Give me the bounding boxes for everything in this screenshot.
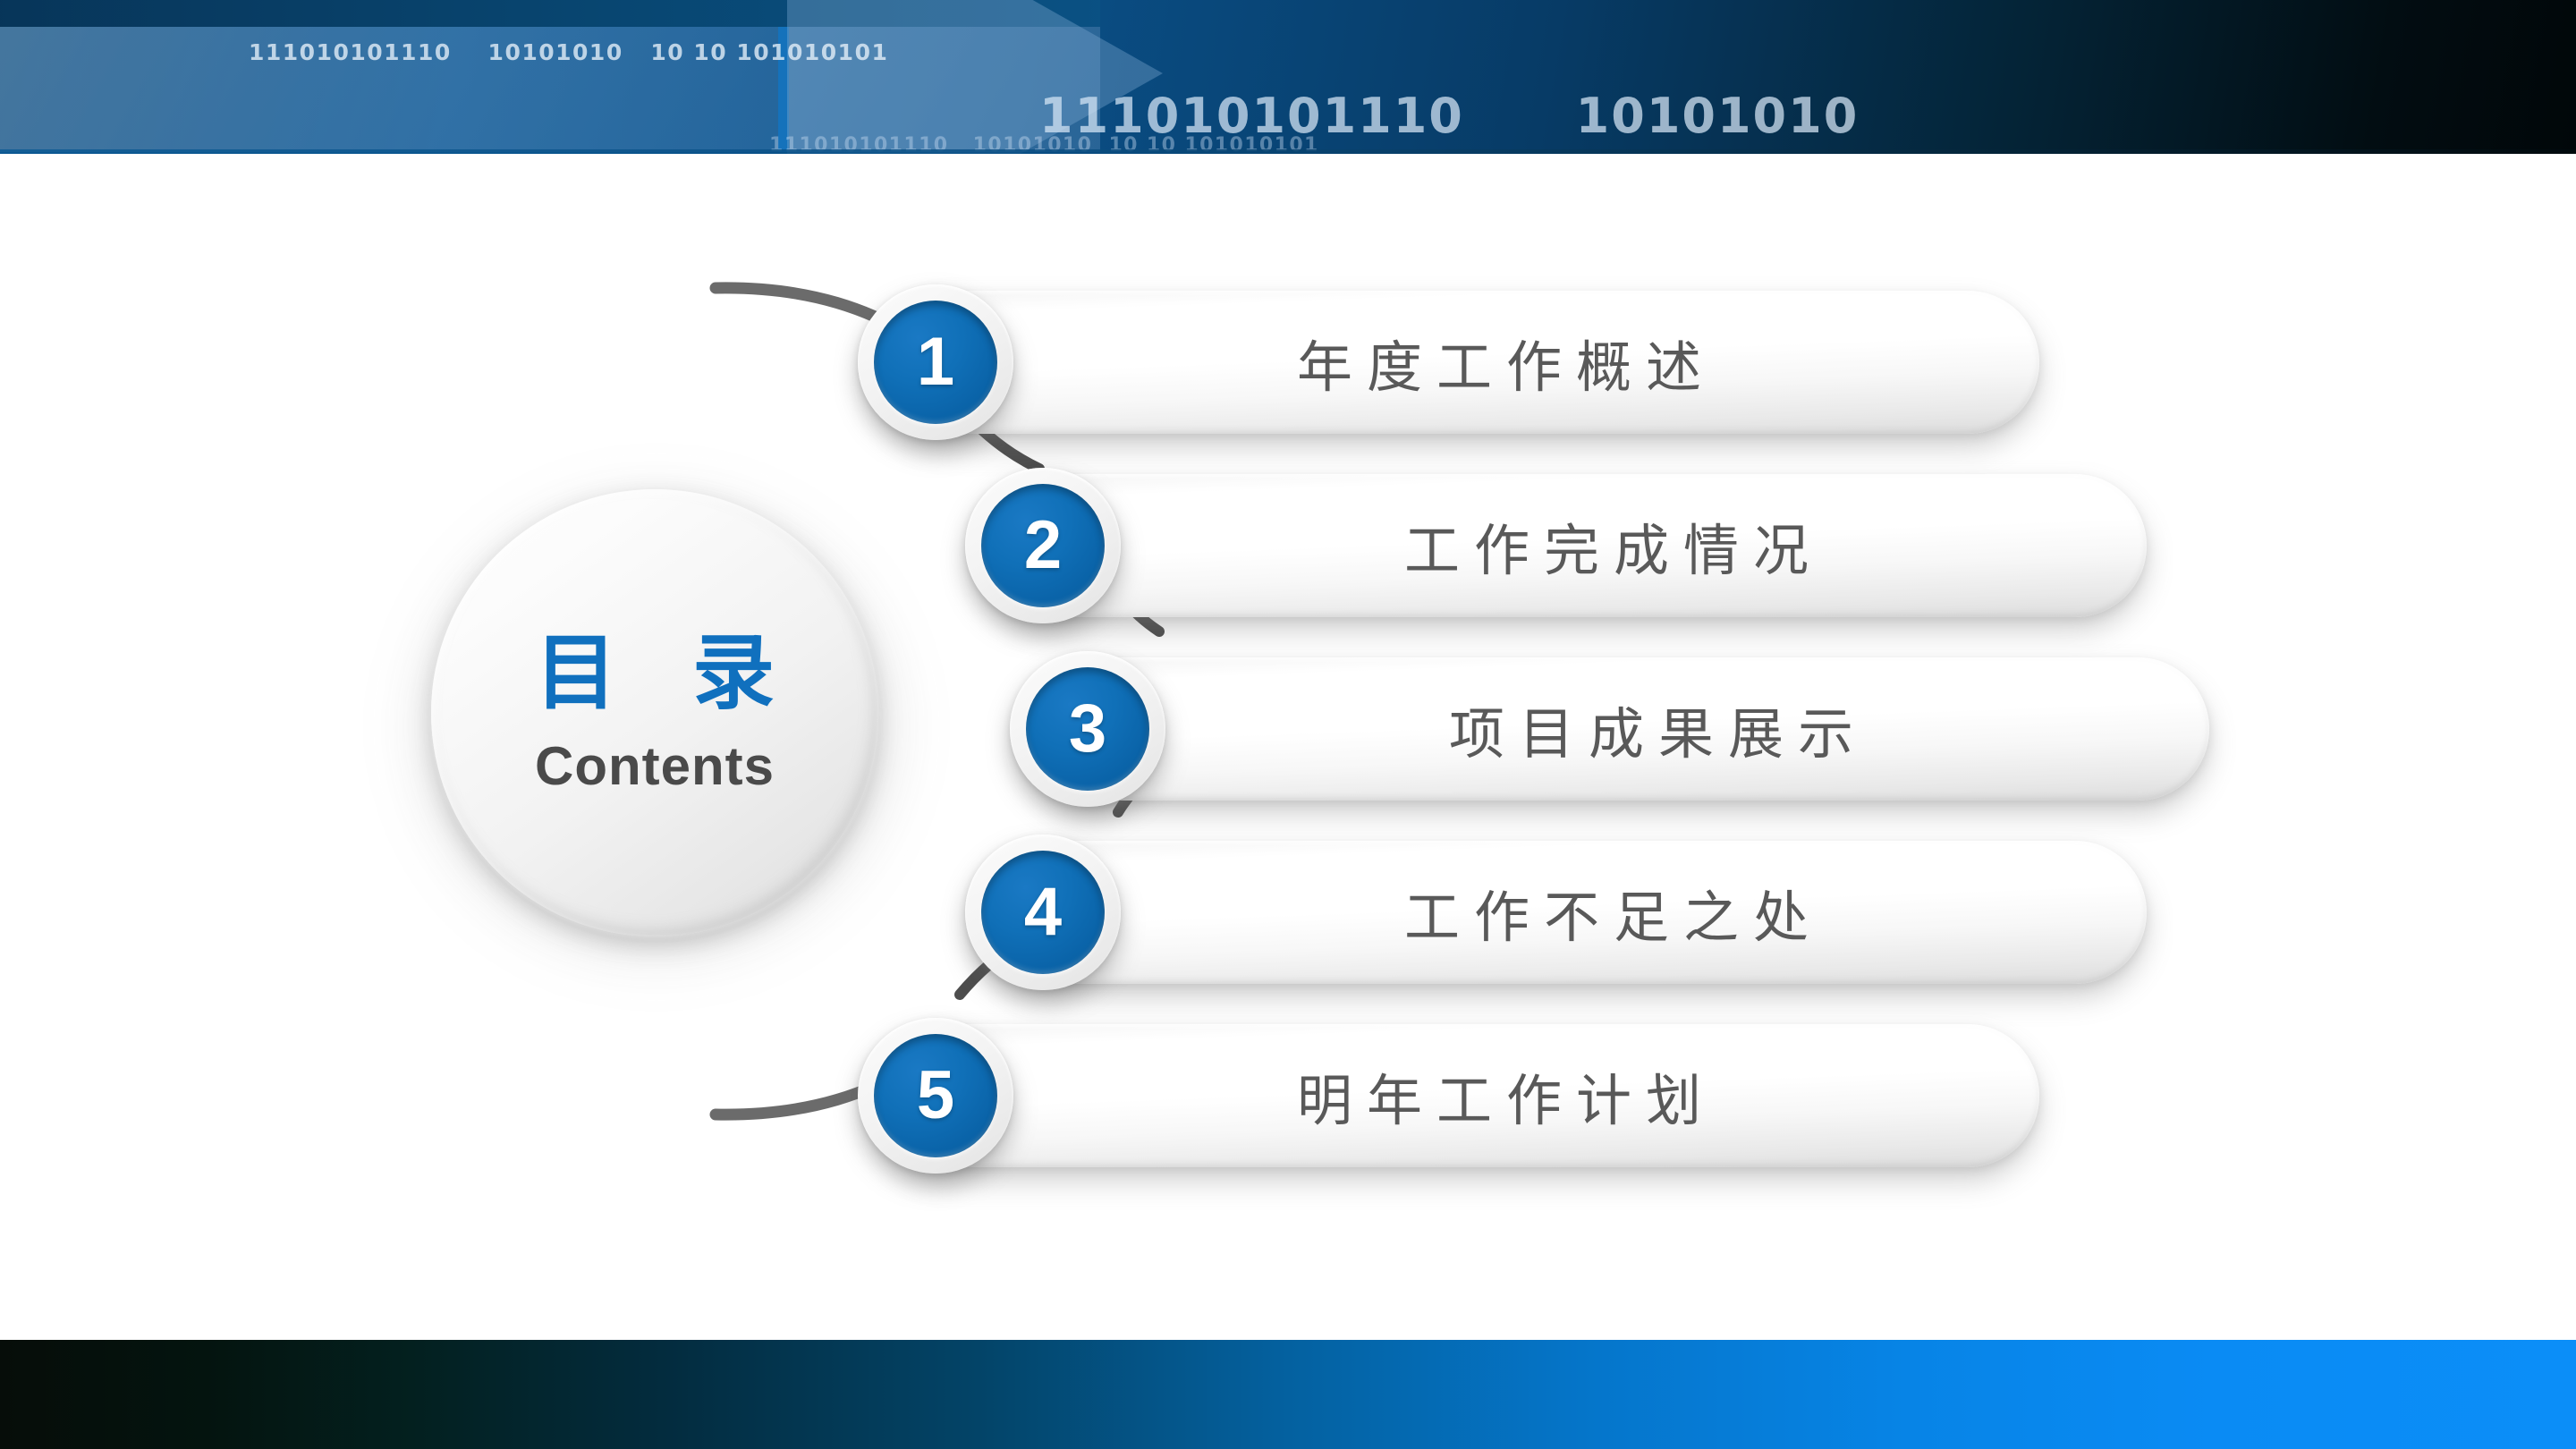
toc-badge-5[interactable]: 5 <box>858 1018 1013 1174</box>
toc-label-4: 工作不足之处 <box>1404 841 1823 984</box>
toc-badge-1[interactable]: 1 <box>858 284 1013 440</box>
slide-canvas: 111010101110 10101010 10 10 101010101 11… <box>0 0 2576 1449</box>
bottom-bar <box>0 1340 2576 1449</box>
toc-badge-number-5: 5 <box>874 1034 997 1157</box>
toc-badge-2[interactable]: 2 <box>965 468 1121 623</box>
circle-title-english: Contents <box>535 740 775 793</box>
contents-circle: 目 录 Contents <box>386 452 923 988</box>
banner-binary-text-small: 111010101110 10101010 10 10 101010101 <box>249 39 888 65</box>
toc-row-1[interactable]: 年度工作概述 1 <box>877 291 2039 434</box>
toc-badge-number-2: 2 <box>981 484 1105 607</box>
toc-label-5: 明年工作计划 <box>1297 1024 1716 1167</box>
circle-face: 目 录 Contents <box>431 489 878 936</box>
top-banner: 111010101110 10101010 10 10 101010101 11… <box>0 0 2576 154</box>
content-stage: 目 录 Contents 年度工作概述 1 工作完成情况 2 项目成果展示 3 <box>0 154 2576 1340</box>
toc-badge-3[interactable]: 3 <box>1010 651 1165 807</box>
circle-title-chinese: 目 录 <box>512 632 798 715</box>
toc-row-5[interactable]: 明年工作计划 5 <box>877 1024 2039 1167</box>
toc-row-3[interactable]: 项目成果展示 3 <box>1029 657 2209 801</box>
toc-badge-number-4: 4 <box>981 851 1105 974</box>
toc-label-3: 项目成果展示 <box>1449 657 1868 801</box>
toc-row-4[interactable]: 工作不足之处 4 <box>984 841 2147 984</box>
toc-badge-number-1: 1 <box>874 301 997 424</box>
toc-label-2: 工作完成情况 <box>1404 474 1823 617</box>
toc-row-2[interactable]: 工作完成情况 2 <box>984 474 2147 617</box>
toc-badge-number-3: 3 <box>1026 667 1149 791</box>
toc-badge-4[interactable]: 4 <box>965 835 1121 990</box>
toc-label-1: 年度工作概述 <box>1297 291 1716 434</box>
banner-binary-text-large: 111010101110 10101010 <box>1039 88 1859 144</box>
